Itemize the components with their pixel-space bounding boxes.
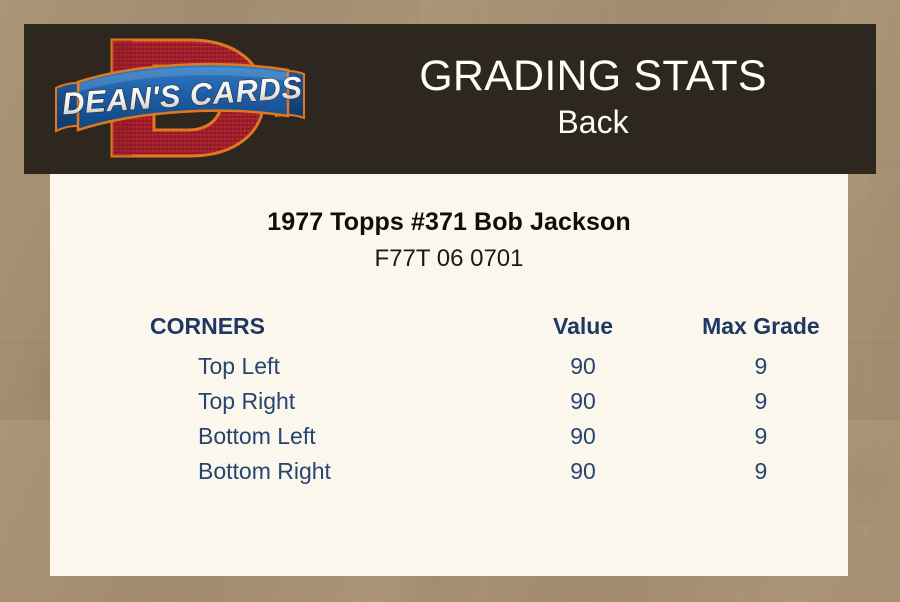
row-value: 90 xyxy=(494,384,672,419)
header-bar: DEAN'S CARDS GRADING STATS Back xyxy=(24,24,876,174)
page-subtitle: Back xyxy=(557,102,628,144)
grading-stats-table: CORNERS Value Max Grade Top Left 90 9 To… xyxy=(150,309,850,489)
deans-cards-logo[interactable]: DEAN'S CARDS xyxy=(50,26,310,172)
table-row: Top Left 90 9 xyxy=(150,349,850,384)
row-max-grade: 9 xyxy=(672,349,850,384)
column-header-value: Value xyxy=(494,309,672,349)
column-header-max-grade: Max Grade xyxy=(672,309,850,349)
row-value: 90 xyxy=(494,419,672,454)
table-header-row: CORNERS Value Max Grade xyxy=(150,309,850,349)
card-serial-number: F77T 06 0701 xyxy=(50,245,848,273)
row-max-grade: 9 xyxy=(672,384,850,419)
row-max-grade: 9 xyxy=(672,419,850,454)
content-panel: 1977 Topps #371 Bob Jackson F77T 06 0701… xyxy=(50,174,848,576)
table-row: Bottom Right 90 9 xyxy=(150,454,850,489)
card-title: 1977 Topps #371 Bob Jackson xyxy=(50,208,848,237)
header-titles: GRADING STATS Back xyxy=(310,24,876,174)
deans-cards-logo-svg: DEAN'S CARDS xyxy=(50,26,310,172)
table-row: Top Right 90 9 xyxy=(150,384,850,419)
page-title: GRADING STATS xyxy=(419,54,766,99)
row-label: Top Left xyxy=(150,349,494,384)
row-max-grade: 9 xyxy=(672,454,850,489)
row-label: Bottom Right xyxy=(150,454,494,489)
row-label: Bottom Left xyxy=(150,419,494,454)
row-value: 90 xyxy=(494,454,672,489)
column-header-corners: CORNERS xyxy=(150,309,494,349)
table-row: Bottom Left 90 9 xyxy=(150,419,850,454)
row-label: Top Right xyxy=(150,384,494,419)
row-value: 90 xyxy=(494,349,672,384)
